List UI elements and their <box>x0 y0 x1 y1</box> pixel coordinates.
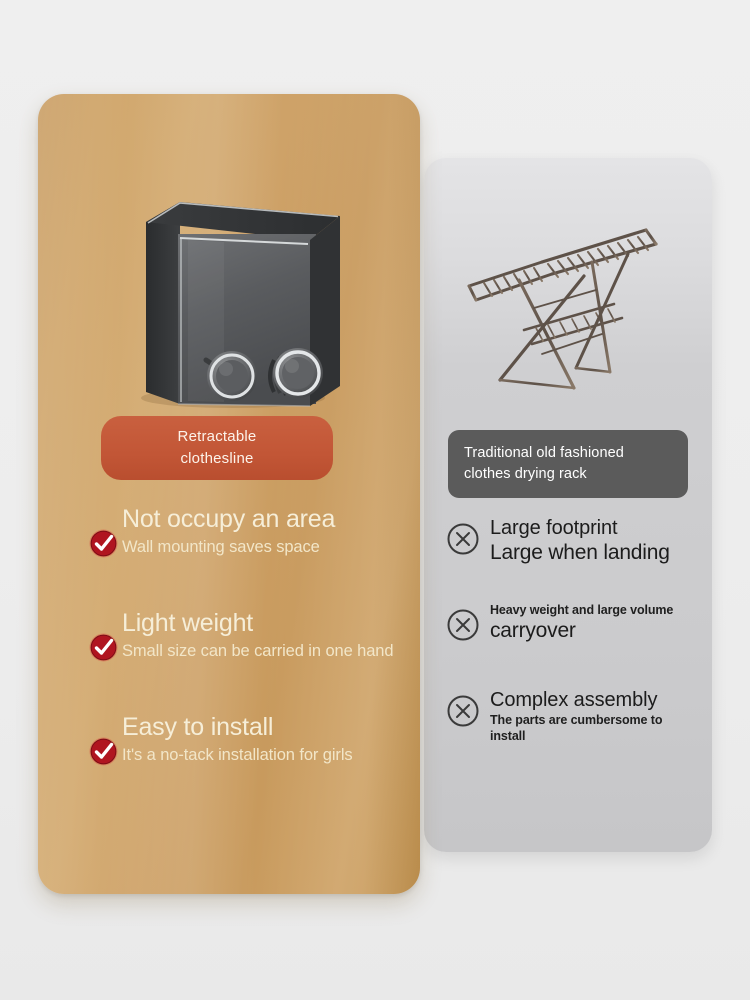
check-circle-icon <box>88 632 119 663</box>
feature-list: Not occupy an area Wall mounting saves s… <box>60 504 410 816</box>
drawback-title: Heavy weight and large volume <box>490 602 700 618</box>
feature-item: Light weight Small size can be carried i… <box>60 608 410 678</box>
drying-rack-photo <box>424 158 712 408</box>
check-circle-icon <box>88 736 119 767</box>
product-badge-line1: Retractable <box>111 426 323 448</box>
circle-x-icon <box>446 608 480 642</box>
feature-title: Light weight <box>122 608 410 639</box>
drawback-title: Large footprint <box>490 516 700 540</box>
feature-subtitle: Wall mounting saves space <box>122 535 410 560</box>
feature-item: Not occupy an area Wall mounting saves s… <box>60 504 410 574</box>
clothesline-box-photo <box>38 154 420 444</box>
drawback-subtitle: Large when landing <box>490 540 700 566</box>
feature-title: Easy to install <box>122 712 410 743</box>
drawback-item: Heavy weight and large volume carryover <box>442 602 700 660</box>
circle-x-icon <box>446 522 480 556</box>
drawback-title: Complex assembly <box>490 688 700 712</box>
retractable-clothesline-card: Retractable clothesline Not occupy an ar… <box>38 94 420 894</box>
drawback-subtitle: The parts are cumbersome to install <box>490 712 700 744</box>
circle-x-icon <box>446 694 480 728</box>
drawback-list: Large footprint Large when landing Heavy… <box>442 516 700 774</box>
traditional-badge-line1: Traditional old fashioned <box>464 443 674 464</box>
traditional-badge-line2: clothes drying rack <box>464 464 674 485</box>
drawback-item: Complex assembly The parts are cumbersom… <box>442 688 700 746</box>
check-circle-icon <box>88 528 119 559</box>
traditional-drying-rack-card: Traditional old fashioned clothes drying… <box>424 158 712 852</box>
product-badge: Retractable clothesline <box>101 416 333 480</box>
feature-item: Easy to install It's a no-tack installat… <box>60 712 410 782</box>
product-badge-line2: clothesline <box>111 448 323 470</box>
infographic-stage: Traditional old fashioned clothes drying… <box>0 0 750 1000</box>
feature-subtitle: It's a no-tack installation for girls <box>122 743 410 768</box>
traditional-badge: Traditional old fashioned clothes drying… <box>448 430 688 498</box>
drawback-item: Large footprint Large when landing <box>442 516 700 574</box>
feature-subtitle: Small size can be carried in one hand <box>122 639 410 664</box>
drawback-subtitle: carryover <box>490 618 700 644</box>
feature-title: Not occupy an area <box>122 504 410 535</box>
